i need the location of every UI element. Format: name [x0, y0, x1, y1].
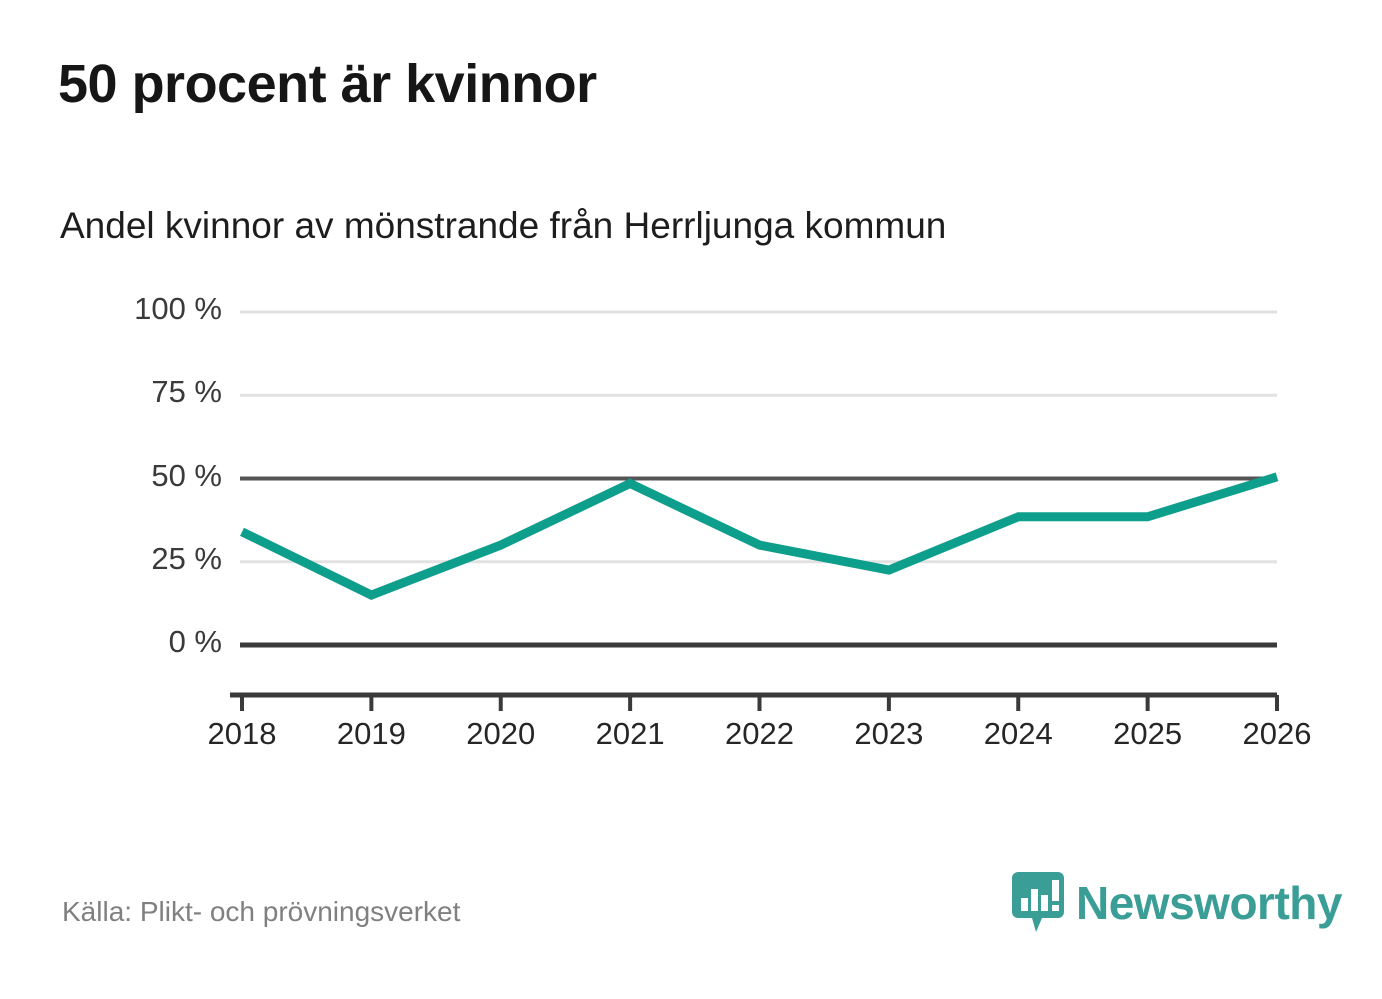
y-tick-label: 100 % — [52, 291, 222, 327]
y-tick-label: 25 % — [52, 541, 222, 577]
y-tick-label: 75 % — [52, 374, 222, 410]
newsworthy-logo[interactable]: Newsworthy — [1012, 872, 1342, 934]
line-chart: 0 %25 %50 %75 %100 % 2018201920202021202… — [0, 0, 1382, 999]
x-tick-label: 2019 — [301, 716, 441, 752]
x-tick-label: 2022 — [690, 716, 830, 752]
x-tick-label: 2024 — [948, 716, 1088, 752]
speech-bubble-bar-chart-icon — [1012, 872, 1064, 934]
x-tick-label: 2026 — [1207, 716, 1347, 752]
data-series-line — [242, 477, 1277, 595]
source-note: Källa: Plikt- och prövningsverket — [62, 896, 460, 928]
y-tick-label: 50 % — [52, 458, 222, 494]
x-tick-label: 2021 — [560, 716, 700, 752]
gridlines — [240, 312, 1277, 645]
x-tick-label: 2018 — [172, 716, 312, 752]
chart-page: 50 procent är kvinnor Andel kvinnor av m… — [0, 0, 1382, 999]
newsworthy-wordmark: Newsworthy — [1076, 880, 1342, 926]
y-tick-label: 0 % — [52, 624, 222, 660]
x-tick-label: 2020 — [431, 716, 571, 752]
x-axis — [230, 695, 1277, 711]
x-tick-label: 2023 — [819, 716, 959, 752]
chart-canvas — [0, 0, 1382, 999]
x-tick-label: 2025 — [1078, 716, 1218, 752]
